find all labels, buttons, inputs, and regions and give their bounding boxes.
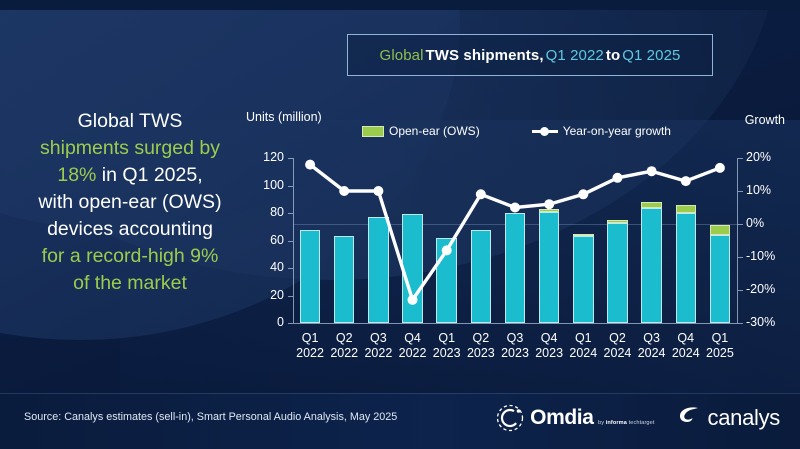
y-tick-label-left: 40 bbox=[244, 260, 284, 274]
y-axis-title-right: Growth bbox=[745, 113, 785, 127]
y-tick-right bbox=[738, 191, 743, 192]
y-tick-label-right: 10% bbox=[746, 183, 792, 197]
growth-line-marker[interactable] bbox=[715, 163, 725, 173]
x-axis-label-year: 2025 bbox=[698, 346, 742, 361]
axis-line-right bbox=[737, 158, 738, 323]
title-part-tws: TWS shipments, bbox=[425, 47, 545, 64]
growth-line-marker[interactable] bbox=[681, 176, 691, 186]
growth-line-marker[interactable] bbox=[578, 189, 588, 199]
title-part-to: to bbox=[605, 47, 621, 64]
source-note: Source: Canalys estimates (sell-in), Sma… bbox=[24, 411, 397, 423]
growth-line-marker[interactable] bbox=[510, 203, 520, 213]
title-part-start-quarter: Q1 2022 bbox=[545, 47, 605, 64]
headline-text: Global TWS shipments surged by 18% in Q1… bbox=[18, 108, 242, 297]
growth-line-marker[interactable] bbox=[613, 173, 623, 183]
legend-swatch-icon bbox=[362, 126, 384, 137]
omdia-tagline: by informa techtarget bbox=[598, 420, 655, 426]
top-strip bbox=[0, 0, 800, 10]
y-tick-label-left: 100 bbox=[244, 178, 284, 192]
x-axis-label-quarter: Q1 bbox=[698, 331, 742, 346]
y-tick-label-left: 120 bbox=[244, 150, 284, 164]
y-tick-right bbox=[738, 257, 743, 258]
headline-line-6: for a record-high 9% bbox=[42, 245, 219, 267]
growth-line-series bbox=[293, 158, 737, 323]
legend-label-open-ear: Open-ear (OWS) bbox=[389, 124, 480, 138]
plot-area bbox=[293, 158, 737, 323]
headline-line-4: with open-ear (OWS) bbox=[38, 191, 221, 213]
canalys-wordmark: canalys bbox=[708, 405, 781, 431]
omdia-mark-icon bbox=[496, 404, 524, 432]
y-tick-label-right: 0% bbox=[746, 216, 792, 230]
y-tick-right bbox=[738, 323, 743, 324]
growth-line-path bbox=[310, 165, 720, 300]
omdia-logo: Omdia by informa techtarget bbox=[496, 404, 654, 432]
headline-line-5: devices accounting bbox=[47, 218, 213, 240]
chart-area: Units (million) Growth Open-ear (OWS) Ye… bbox=[246, 106, 786, 386]
legend-label-growth: Year-on-year growth bbox=[563, 124, 671, 138]
headline-line-2: shipments surged by bbox=[40, 137, 220, 159]
y-tick-right bbox=[738, 158, 743, 159]
growth-line-marker[interactable] bbox=[373, 186, 383, 196]
slide-canvas: Global TWS shipments, Q1 2022 to Q1 2025… bbox=[0, 0, 800, 449]
chart-legend: Open-ear (OWS) Year-on-year growth bbox=[362, 124, 712, 138]
growth-line-marker[interactable] bbox=[408, 295, 418, 305]
growth-line-marker[interactable] bbox=[442, 245, 452, 255]
canalys-mark-icon bbox=[677, 405, 701, 432]
canalys-logo: canalys bbox=[677, 405, 781, 432]
headline-line-3-pct: 18% bbox=[57, 164, 96, 186]
growth-line-marker[interactable] bbox=[647, 166, 657, 176]
axis-line-bottom bbox=[293, 323, 738, 324]
omdia-text-block: Omdia by informa techtarget bbox=[530, 408, 654, 429]
y-tick-left bbox=[288, 323, 293, 324]
legend-line-marker-icon bbox=[532, 126, 558, 136]
growth-line-marker[interactable] bbox=[339, 186, 349, 196]
title-part-global: Global bbox=[379, 47, 425, 64]
growth-line-marker[interactable] bbox=[305, 160, 315, 170]
y-tick-right bbox=[738, 290, 743, 291]
y-tick-label-right: 20% bbox=[746, 150, 792, 164]
y-tick-label-right: -20% bbox=[746, 282, 792, 296]
y-tick-right bbox=[738, 224, 743, 225]
y-tick-label-right: -30% bbox=[746, 315, 792, 329]
y-tick-label-left: 80 bbox=[244, 205, 284, 219]
headline-line-7: of the market bbox=[73, 272, 187, 294]
y-tick-label-left: 20 bbox=[244, 288, 284, 302]
growth-line-marker[interactable] bbox=[476, 189, 486, 199]
y-tick-label-left: 60 bbox=[244, 233, 284, 247]
headline-line-1: Global TWS bbox=[78, 110, 183, 132]
logo-group: Omdia by informa techtarget canalys bbox=[496, 398, 780, 438]
y-axis-title-left: Units (million) bbox=[246, 110, 322, 124]
growth-line-marker[interactable] bbox=[544, 199, 554, 209]
title-part-end-quarter: Q1 2025 bbox=[621, 47, 681, 64]
legend-item-growth: Year-on-year growth bbox=[532, 124, 671, 138]
y-tick-label-left: 0 bbox=[244, 315, 284, 329]
x-axis-label: Q12025 bbox=[698, 331, 742, 361]
chart-title-box: Global TWS shipments, Q1 2022 to Q1 2025 bbox=[347, 34, 713, 76]
y-tick-label-right: -10% bbox=[746, 249, 792, 263]
omdia-wordmark: Omdia bbox=[530, 406, 593, 429]
legend-item-open-ear: Open-ear (OWS) bbox=[362, 124, 480, 138]
headline-line-3-rest: in Q1 2025, bbox=[96, 164, 202, 186]
